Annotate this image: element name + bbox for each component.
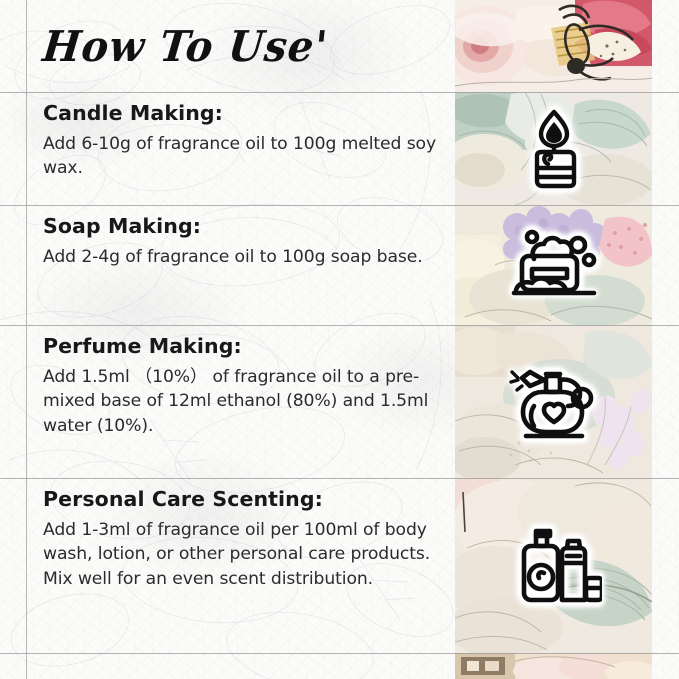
section-body: Add 1-3ml of fragrance oil per 100ml of … [43,518,445,591]
section-heading: Soap Making: [43,214,445,238]
section-heading: Perfume Making: [43,334,445,358]
divider-after-personal-care [0,653,679,654]
section-perfume-making: Perfume Making: Add 1.5ml （10%） of fragr… [26,325,455,478]
section-body: Add 6-10g of fragrance oil to 100g melte… [43,132,445,181]
photo-band-leaves-and-petals [455,92,652,205]
section-body: Add 2-4g of fragrance oil to 100g soap b… [43,245,445,269]
page-title: How To Use' [23,21,330,71]
section-heading: Candle Making: [43,101,445,125]
floral-photo-column [455,0,652,679]
title-block: How To Use' [26,0,455,92]
photo-band-blossoms-and-buds [455,325,652,478]
photo-band-berries-and-fruit [455,205,652,325]
photo-band-bottom-florals [455,653,652,679]
section-candle-making: Candle Making: Add 6-10g of fragrance oi… [26,92,455,205]
photo-band-pale-petals [455,478,652,653]
section-body: Add 1.5ml （10%） of fragrance oil to a pr… [43,365,445,438]
how-to-use-infographic: How To Use' Candle Making: Add 6-10g of … [0,0,679,679]
photo-band-roses-and-moth [455,0,652,92]
section-soap-making: Soap Making: Add 2-4g of fragrance oil t… [26,205,455,325]
section-personal-care-scenting: Personal Care Scenting: Add 1-3ml of fra… [26,478,455,653]
section-heading: Personal Care Scenting: [43,487,445,511]
